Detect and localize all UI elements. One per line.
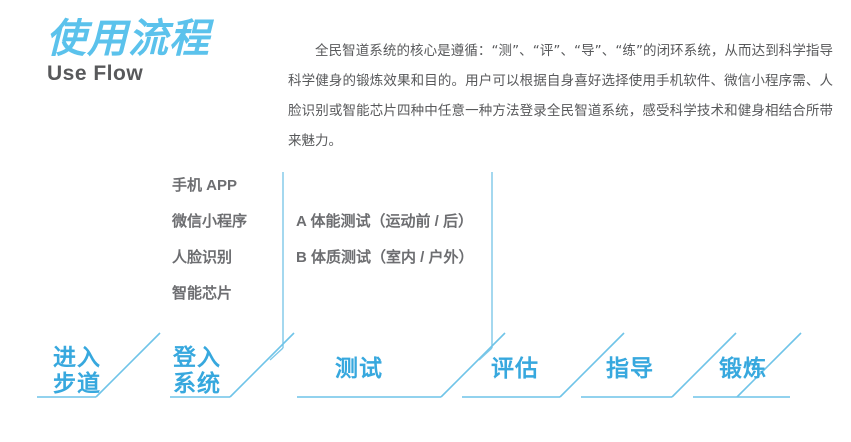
stage-label-line1: 锻炼	[712, 356, 774, 381]
stage-label-line1: 评估	[484, 356, 546, 381]
test-types-list: A 体能测试（运动前 / 后） B 体质测试（室内 / 户外）	[296, 204, 496, 276]
use-flow-infographic: 使用流程 Use Flow 全民智道系统的核心是遵循：“测”、“评”、“导”、“…	[0, 0, 851, 442]
list-item: A 体能测试（运动前 / 后）	[296, 204, 496, 240]
list-item: 手机 APP	[172, 168, 272, 204]
login-methods-list: 手机 APP 微信小程序 人脸识别 智能芯片	[172, 168, 272, 312]
list-item: 人脸识别	[172, 240, 272, 276]
intro-paragraph: 全民智道系统的核心是遵循：“测”、“评”、“导”、“练”的闭环系统，从而达到科学…	[288, 36, 833, 156]
stage-label-line1: 登入	[166, 344, 228, 370]
page-title-en: Use Flow	[47, 62, 143, 86]
timeline-stage-guide[interactable]: 指导	[599, 356, 661, 381]
stage-label-line1: 测试	[328, 356, 390, 381]
list-item: 微信小程序	[172, 204, 272, 240]
timeline-stage-test[interactable]: 测试	[328, 356, 390, 381]
timeline-stage-enter-trail[interactable]: 进入 步道	[46, 344, 108, 396]
stage-label-line2: 步道	[46, 370, 108, 396]
timeline-stage-login-system[interactable]: 登入 系统	[166, 344, 228, 396]
list-item: B 体质测试（室内 / 户外）	[296, 240, 496, 276]
stage-label-line1: 进入	[46, 344, 108, 370]
timeline-stage-evaluate[interactable]: 评估	[484, 356, 546, 381]
list-item: 智能芯片	[172, 276, 272, 312]
stage-label-line2: 系统	[166, 370, 228, 396]
stage-label-line1: 指导	[599, 356, 661, 381]
page-title-cn: 使用流程	[46, 16, 210, 62]
timeline-stage-exercise[interactable]: 锻炼	[712, 356, 774, 381]
